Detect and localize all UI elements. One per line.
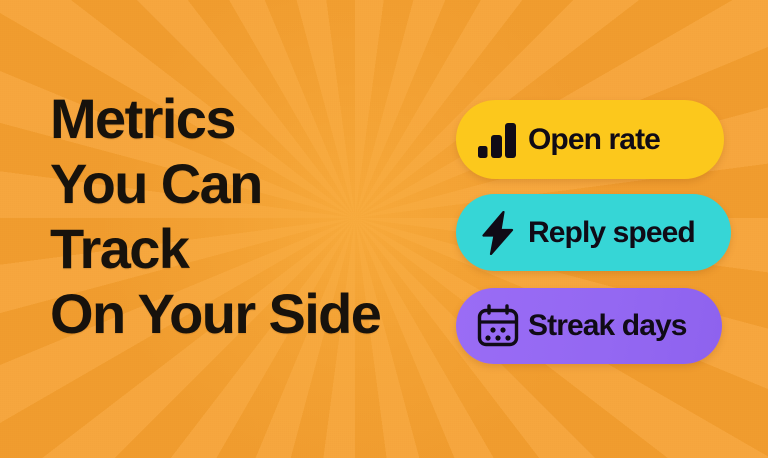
- metric-pill-streak-days[interactable]: Streak days: [456, 288, 722, 364]
- metric-pill-open-rate[interactable]: Open rate: [456, 100, 724, 179]
- metrics-promo-banner: Metrics You Can Track On Your Side Open …: [0, 0, 768, 458]
- metric-pill-label: Open rate: [528, 123, 660, 157]
- calendar-icon: [470, 304, 526, 348]
- headline-line-4: On Your Side: [50, 281, 450, 346]
- metric-pill-label: Reply speed: [528, 216, 695, 250]
- headline-line-1: Metrics: [50, 86, 450, 151]
- bar-chart-icon: [470, 120, 526, 160]
- lightning-bolt-icon: [470, 211, 526, 255]
- metric-pill-label: Streak days: [528, 309, 687, 343]
- headline: Metrics You Can Track On Your Side: [50, 86, 450, 346]
- headline-line-2: You Can: [50, 151, 450, 216]
- headline-line-3: Track: [50, 216, 450, 281]
- metric-pill-reply-speed[interactable]: Reply speed: [456, 194, 731, 271]
